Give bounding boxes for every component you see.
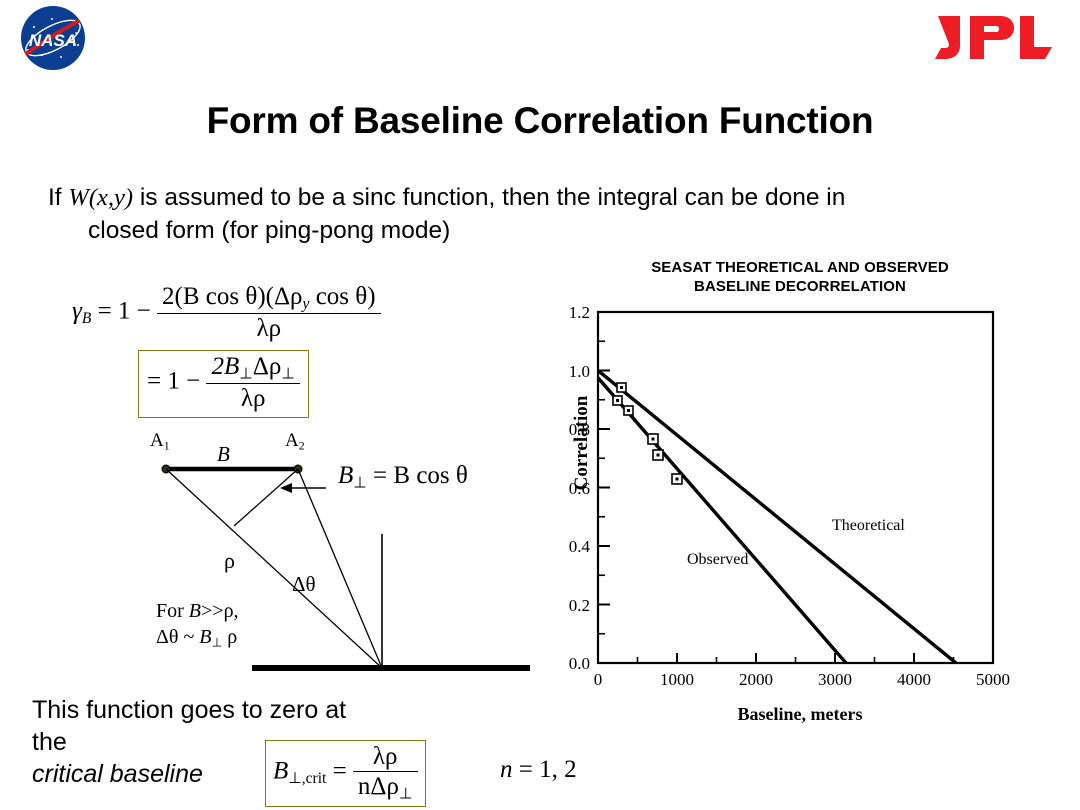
eq1-lhs: γ <box>72 298 82 325</box>
eq2-numerator-subscript-2: ⊥ <box>281 365 295 382</box>
eq2-numerator-mid: Δρ <box>253 353 282 380</box>
equation-n-values: n = 1, 2 <box>500 756 577 784</box>
chart-series-label-theoretical: Theoretical <box>832 517 905 535</box>
eq2-denominator: λρ <box>206 383 299 413</box>
eq3-denominator-subscript: ⊥ <box>399 785 413 802</box>
chart-marker <box>648 434 658 444</box>
chart-ytick-label: 0.4 <box>544 537 590 557</box>
range-ray-a2 <box>298 469 382 668</box>
chart-data-markers <box>613 383 682 484</box>
eq-n-rhs: = 1, 2 <box>519 756 577 783</box>
eq3-numerator: λρ <box>353 743 418 771</box>
eq3-lhs: B <box>273 758 288 785</box>
antenna-2-label: A2 <box>285 430 305 453</box>
note-line1-variable: B <box>189 600 201 622</box>
eq3-denominator-head: nΔρ <box>358 773 399 800</box>
eq-n-lhs: n <box>500 756 513 783</box>
note-line2-variable: B <box>199 626 211 648</box>
eq2-numerator-subscript: ⊥ <box>239 365 253 382</box>
body-text-post: is assumed to be a sinc function, then t… <box>133 184 845 211</box>
baseline-label: B <box>217 442 230 467</box>
eq1-numerator: 2(B cos θ)(Δρy cos θ) <box>157 283 381 313</box>
eq-bperp-rhs: = B cos θ <box>373 462 468 489</box>
note-line2-pre: Δθ ~ <box>156 626 199 648</box>
chart-marker <box>613 396 622 405</box>
eq3-lhs-subscript: ⊥,crit <box>288 770 326 787</box>
equation-critical-baseline-boxed: B⊥,crit = λρ nΔρ⊥ <box>265 740 426 807</box>
chart-ytick-label: 1.2 <box>544 303 590 323</box>
eq3-denominator: nΔρ⊥ <box>353 771 418 803</box>
baseline-geometry-diagram: A1 A2 B ρ Δθ B⊥ = B cos θ For B>>ρ, Δθ ~… <box>130 430 540 690</box>
note-line2-subscript: ⊥ <box>211 635 222 649</box>
eq1-lhs-subscript: B <box>82 310 91 327</box>
nasa-wordmark: NASA <box>29 31 77 50</box>
critical-baseline-note-line2: critical baseline <box>32 760 203 788</box>
eq1-numerator-tail: cos θ) <box>309 283 375 310</box>
eq1-numerator-head: 2(B cos θ)(Δρ <box>162 283 303 310</box>
chart-xtick-label: 4000 <box>879 670 949 690</box>
chart-ytick-label: 0.8 <box>544 420 590 440</box>
equation-gamma-b: γB = 1 − 2(B cos θ)(Δρy cos θ) λρ <box>72 283 381 343</box>
note-line1-post: >>ρ, <box>201 600 239 622</box>
chart-marker <box>672 474 682 484</box>
body-text-variable: W(x,y) <box>68 184 133 211</box>
eq-bperp-subscript: ⊥ <box>353 474 367 491</box>
eq2-fraction: 2B⊥Δρ⊥ λρ <box>206 353 299 413</box>
chart-plot-svg <box>520 252 1072 712</box>
chart-xtick-label: 1000 <box>642 670 712 690</box>
eq2-numerator: 2B⊥Δρ⊥ <box>206 353 299 383</box>
chart-series-label-observed: Observed <box>687 551 748 569</box>
slide-canvas: NASA Form of Baseline Correlation Functi… <box>0 0 1080 810</box>
chart-xtick-label: 3000 <box>800 670 870 690</box>
eq2-operator: = 1 − <box>147 368 200 395</box>
eq1-fraction: 2(B cos θ)(Δρy cos θ) λρ <box>157 283 381 343</box>
eq1-operator: = 1 − <box>98 298 151 325</box>
eq-bperp-lhs: B <box>338 462 353 489</box>
antenna-1-label: A1 <box>150 430 170 453</box>
chart-ytick-label: 0.2 <box>544 596 590 616</box>
body-text-line2: closed form (for ping-pong mode) <box>48 215 1048 248</box>
body-text-pre: If <box>48 184 68 211</box>
chart-ytick-label: 1.0 <box>544 362 590 382</box>
chart-xtick-label: 5000 <box>958 670 1028 690</box>
delta-theta-label: Δθ <box>292 572 316 597</box>
approximation-note: For B>>ρ, Δθ ~ B⊥ ρ <box>156 598 239 651</box>
equation-gamma-b-simplified-boxed: = 1 − 2B⊥Δρ⊥ λρ <box>138 350 309 418</box>
chart-marker <box>653 450 663 460</box>
eq1-denominator: λρ <box>157 313 381 343</box>
eq3-operator: = <box>333 758 347 785</box>
chart-xtick-label: 0 <box>563 670 633 690</box>
eq2-numerator-head: 2B <box>211 353 239 380</box>
bperp-callout-arrowhead <box>280 483 292 493</box>
page-title: Form of Baseline Correlation Function <box>0 100 1080 142</box>
chart-y-major-ticks <box>598 312 610 663</box>
decorrelation-figure: SEASAT THEORETICAL AND OBSERVED BASELINE… <box>520 252 1072 752</box>
chart-xtick-label: 2000 <box>721 670 791 690</box>
chart-axes-frame <box>598 312 993 663</box>
equation-b-perpendicular: B⊥ = B cos θ <box>338 462 468 492</box>
chart-marker <box>624 406 633 415</box>
note-line1-pre: For <box>156 600 189 622</box>
chart-line-observed <box>598 378 846 663</box>
chart-marker <box>617 383 626 392</box>
jpl-logo <box>930 8 1060 66</box>
nasa-logo: NASA <box>8 5 98 75</box>
chart-ytick-label: 0.6 <box>544 479 590 499</box>
range-rho-label: ρ <box>224 548 235 574</box>
perpendicular-baseline-segment <box>234 469 298 526</box>
note-line2-post: ρ <box>222 626 237 648</box>
body-text: If W(x,y) is assumed to be a sinc functi… <box>48 182 1048 247</box>
eq3-fraction: λρ nΔρ⊥ <box>353 743 418 803</box>
geometry-svg <box>130 430 540 690</box>
